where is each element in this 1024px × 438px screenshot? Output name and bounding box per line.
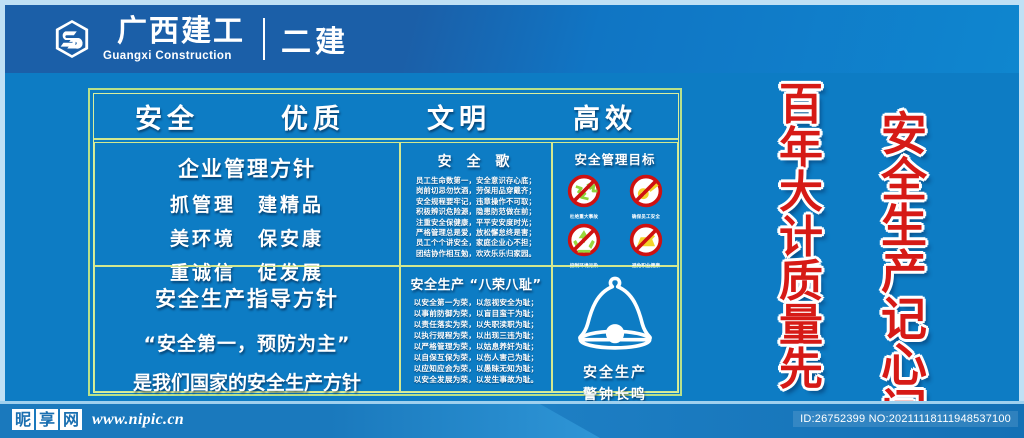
panel-eight-honors: 安全生产 “八荣八耻” 以安全第一为荣，以忽视安全为耻； 以事前防御为荣，以盲目… <box>400 266 552 392</box>
eight-honors-line: 以执行规程为荣，以出现三违为耻； <box>407 330 545 341</box>
gx-construction-logo-icon <box>53 19 91 59</box>
safety-goal-caption: 杜绝重大事故 <box>570 214 598 220</box>
vertical-slogan-a-char: 年 <box>779 128 823 170</box>
safety-guideline-line-2: 是我们国家的安全生产方针 <box>95 368 399 395</box>
safety-song-lines: 员工生命数第一，安全意识存心底； 岗前切忌勿饮酒，劳保用品穿戴齐； 安全规程要牢… <box>401 176 551 259</box>
safety-goal-item: 避免职业健康 <box>618 222 674 269</box>
safety-song-line: 安全规程要牢记，违章操作不可取； <box>406 197 546 207</box>
enterprise-policy-line-2: 美环境 保安康 <box>95 224 399 251</box>
safety-goal-title: 安全管理目标 <box>553 149 677 168</box>
eight-honors-line: 以责任落实为荣，以失职渎职为耻； <box>407 319 545 330</box>
vertical-slogan-b-char: 全 <box>881 158 927 202</box>
vertical-slogan-b-char: 记 <box>881 297 927 341</box>
vertical-slogan-a-char: 量 <box>779 305 823 347</box>
image-id-label: ID:26752399 NO:20211118111948537100 <box>793 411 1018 427</box>
safety-song-line: 积极辨识危险源，隐患防范做在前； <box>406 207 546 217</box>
safety-guideline-line-1: “安全第一，预防为主” <box>95 329 399 356</box>
vertical-slogan-b-char: 生 <box>881 204 927 248</box>
watermark-url[interactable]: www.nipic.cn <box>92 411 184 429</box>
eight-honors-line: 以安全发展为荣，以发生事故为耻。 <box>407 374 545 385</box>
slogan-4: 高效 <box>573 97 637 136</box>
footer-top-edge <box>0 401 1024 404</box>
watermark-char: 昵 <box>12 409 34 430</box>
slogan-2: 优质 <box>281 97 345 136</box>
eight-honors-line: 以应知应会为荣，以愚昧无知为耻； <box>407 363 545 374</box>
panel-safety-goal: 安全管理目标 杜绝重大事故 <box>552 142 678 266</box>
eight-honors-line: 以事前防御为荣，以盲目蛮干为耻； <box>407 308 545 319</box>
vertical-slogan-a-char: 大 <box>779 172 823 214</box>
no-occupational-hazard-icon <box>628 222 664 262</box>
no-unsafe-machine-icon <box>628 173 664 213</box>
safety-song-line: 注重安全保健康，平平安安度时光； <box>406 218 546 228</box>
safety-goal-item: 控制环境污染 <box>556 222 612 269</box>
alarm-bell-caption-line1: 安全生产 <box>583 362 647 382</box>
safety-song-line: 严格管理总是爱，放松懈怠终是害； <box>406 228 546 238</box>
vertical-slogan-column-b: 安 全 生 产 记 心 间 <box>862 112 946 435</box>
vertical-slogan-column-a: 百 年 大 计 质 量 先 <box>762 84 840 394</box>
watermark-char: 享 <box>36 409 58 430</box>
panel-safety-song: 安 全 歌 员工生命数第一，安全意识存心底； 岗前切忌勿饮酒，劳保用品穿戴齐； … <box>400 142 552 266</box>
board-grid: 企业管理方针 抓管理 建精品 美环境 保安康 重诚信 促发展 安 全 歌 员工生… <box>94 142 678 392</box>
eight-honors-line: 以自保互保为荣，以伤人害己为耻； <box>407 352 545 363</box>
safety-goal-item: 确保员工安全 <box>618 173 674 220</box>
safety-song-line: 员工生命数第一，安全意识存心底； <box>406 176 546 186</box>
footer-watermark-bar: 昵 享 网 www.nipic.cn ID:26752399 NO:202111… <box>0 404 1024 438</box>
panel-safety-guideline: 安全生产指导方针 “安全第一，预防为主” 是我们国家的安全生产方针 <box>94 266 400 392</box>
header-band: 广西建工 Guangxi Construction 二建 <box>5 5 1019 73</box>
no-injury-icon <box>566 173 602 213</box>
safety-goal-caption: 确保员工安全 <box>632 214 660 220</box>
vertical-slogan-b-char: 心 <box>881 343 927 387</box>
enterprise-policy-title: 企业管理方针 <box>95 153 399 183</box>
panel-alarm-bell: 安全生产 警钟长鸣 <box>552 266 678 392</box>
eight-honors-lines: 以安全第一为荣，以忽视安全为耻； 以事前防御为荣，以盲目蛮干为耻； 以责任落实为… <box>401 297 551 385</box>
poster-canvas: 广西建工 Guangxi Construction 二建 安全 优质 文明 高效… <box>0 0 1024 438</box>
slogan-1: 安全 <box>135 97 199 136</box>
watermark-logo: 昵 享 网 <box>12 409 84 430</box>
vertical-slogan-a-char: 百 <box>779 84 823 126</box>
eight-honors-title: 安全生产 “八荣八耻” <box>401 274 551 293</box>
safety-song-line: 岗前切忌勿饮酒，劳保用品穿戴齐； <box>406 186 546 196</box>
no-pollution-icon <box>566 222 602 262</box>
alarm-bell-wrap: 安全生产 警钟长鸣 <box>553 273 677 404</box>
vertical-slogan-a-char: 质 <box>779 261 823 303</box>
safety-song-line: 团结协作相互勉，欢欢乐乐归家园。 <box>406 249 546 259</box>
safety-goal-icon-grid: 杜绝重大事故 <box>553 173 677 269</box>
slogan-3: 文明 <box>427 97 491 136</box>
safety-goal-item: 杜绝重大事故 <box>556 173 612 220</box>
watermark-char: 网 <box>60 409 82 430</box>
slogan-row: 安全 优质 文明 高效 <box>94 94 678 140</box>
enterprise-policy-line-1: 抓管理 建精品 <box>95 190 399 217</box>
safety-guideline-title: 安全生产指导方针 <box>95 283 399 313</box>
vertical-slogan-b-char: 产 <box>881 250 927 294</box>
vertical-slogan-a-char: 先 <box>779 349 823 391</box>
main-board: 安全 优质 文明 高效 企业管理方针 抓管理 建精品 美环境 保安康 重诚信 促… <box>88 88 682 396</box>
brand-block: 广西建工 Guangxi Construction <box>103 17 245 62</box>
brand-name-cn: 广西建工 <box>117 17 245 47</box>
watermark-block: 昵 享 网 www.nipic.cn <box>12 409 184 430</box>
eight-honors-line: 以安全第一为荣，以忽视安全为耻； <box>407 297 545 308</box>
brand-name-en: Guangxi Construction <box>103 50 245 62</box>
safety-song-title: 安 全 歌 <box>401 151 551 171</box>
brand-divider <box>263 18 265 60</box>
eight-honors-line: 以严格管理为荣，以姑息养奸为耻； <box>407 341 545 352</box>
panel-enterprise-policy: 企业管理方针 抓管理 建精品 美环境 保安康 重诚信 促发展 <box>94 142 400 266</box>
vertical-slogan-b-char: 安 <box>881 112 927 156</box>
safety-song-line: 员工个个讲安全，家庭企业心不担； <box>406 238 546 248</box>
alarm-bell-icon <box>568 273 662 361</box>
brand-subunit: 二建 <box>281 17 349 61</box>
vertical-slogan-a-char: 计 <box>779 217 823 259</box>
